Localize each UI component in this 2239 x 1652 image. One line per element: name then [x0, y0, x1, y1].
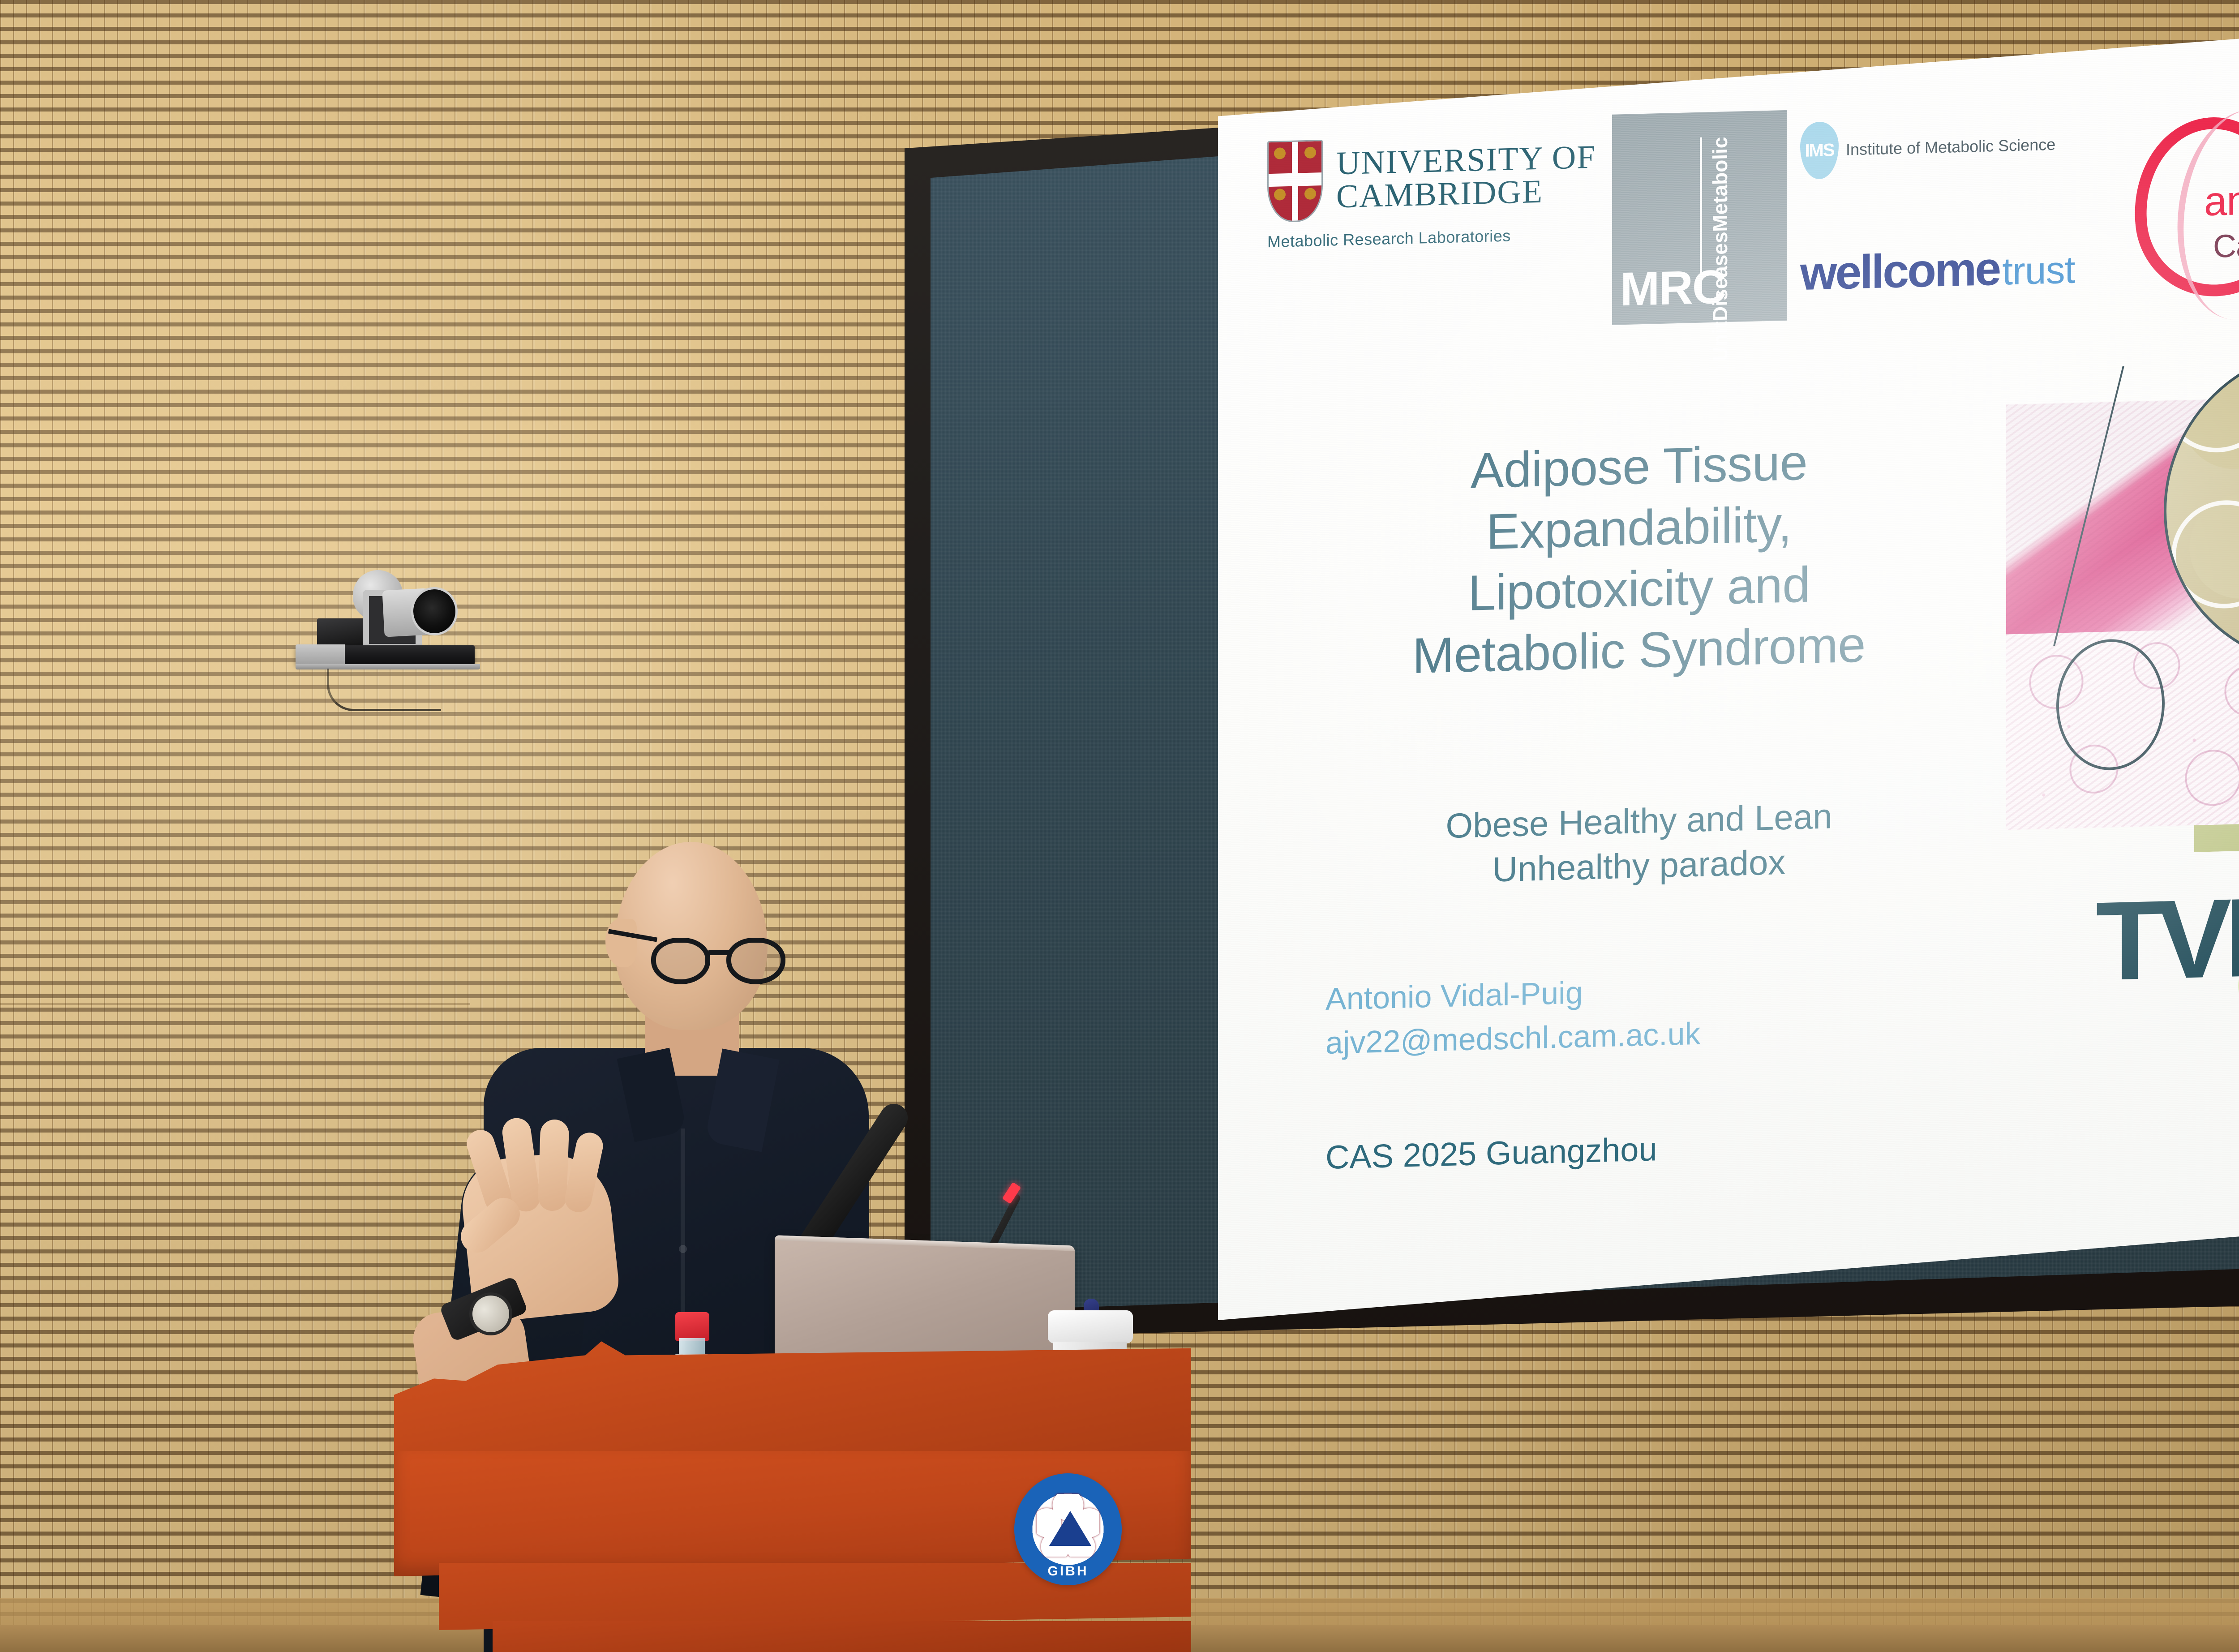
presentation-scene: UNIVERSITY OF CAMBRIDGE Metabolic Resear…	[0, 0, 2239, 1652]
speaker-shirt-button	[679, 1245, 687, 1253]
mrc-divider	[1700, 137, 1702, 298]
emblem-acronym: GIBH	[1014, 1564, 1122, 1579]
slide-title: Adipose Tissue Expandability, Lipotoxici…	[1308, 428, 1970, 689]
ims-label: Institute of Metabolic Science	[1846, 135, 2055, 159]
cambridge-line1: UNIVERSITY OF	[1336, 141, 1596, 180]
logo-cambridge-cardiovascular: ambridge Cardiovascular	[2125, 94, 2239, 312]
cardio-line2: Cardiovascular	[2213, 223, 2239, 265]
camera-shelf-cap	[296, 644, 345, 667]
podium-desktop	[394, 1339, 1191, 1455]
slide-venue-block: CAS 2025 Guangzhou	[1325, 1120, 2042, 1176]
histology-composite-image	[2006, 344, 2239, 857]
slide-author-block: Antonio Vidal-Puig ajv22@medschl.cam.ac.…	[1325, 964, 1863, 1065]
cardio-line1: ambridge	[2204, 174, 2239, 226]
cambridge-shield-icon	[1267, 140, 1323, 223]
speaker-glasses-icon	[651, 930, 799, 983]
bottle-cap-icon	[675, 1312, 709, 1341]
mrc-acronym: MRC	[1612, 260, 1725, 325]
venue-text: CAS 2025 Guangzhou	[1325, 1120, 2042, 1176]
slide-logo-row: UNIVERSITY OF CAMBRIDGE Metabolic Resear…	[1267, 94, 2239, 334]
wooden-podium: GIBH	[394, 1339, 1191, 1652]
projected-slide: UNIVERSITY OF CAMBRIDGE Metabolic Resear…	[1218, 21, 2239, 1320]
logo-tvp-lab: TVP ab	[2096, 870, 2239, 1065]
logo-wellcome-trust: wellcome trust	[1800, 239, 2114, 301]
logo-university-of-cambridge: UNIVERSITY OF CAMBRIDGE Metabolic Resear…	[1267, 115, 1608, 251]
tvp-letters: TVP	[2096, 872, 2239, 1005]
camera-control-box	[317, 618, 367, 648]
cup-lid	[1048, 1310, 1133, 1343]
mrc-word-1: Diseases	[1708, 231, 1775, 322]
trust-word: trust	[2002, 248, 2075, 294]
podium-gibh-emblem: GIBH	[1014, 1473, 1122, 1585]
mrc-word-0: Metabolic	[1708, 136, 1775, 232]
logo-mrc-metabolic-diseases-unit: MRC Metabolic Diseases Unit	[1612, 110, 1787, 325]
magnified-adipocytes-circle	[2164, 344, 2239, 670]
logo-ims-wellcome-group: IMS Institute of Metabolic Science wellc…	[1800, 102, 2114, 301]
logo-institute-of-metabolic-science: IMS Institute of Metabolic Science	[1800, 102, 2114, 180]
slide-subtitle: Obese Healthy and Lean Unhealthy paradox	[1308, 790, 1970, 897]
podium-base	[493, 1621, 1191, 1652]
cambridge-line2: CAMBRIDGE	[1336, 174, 1596, 214]
ims-mark-icon: IMS	[1800, 121, 1839, 180]
mrc-word-2: Unit	[1708, 320, 1775, 361]
cambridge-subtitle: Metabolic Research Laboratories	[1267, 224, 1608, 251]
ims-mark-letters: IMS	[1800, 121, 1839, 180]
camera-cable	[327, 669, 441, 711]
ptz-conference-camera	[296, 562, 484, 728]
wellcome-word: wellcome	[1800, 242, 1999, 301]
